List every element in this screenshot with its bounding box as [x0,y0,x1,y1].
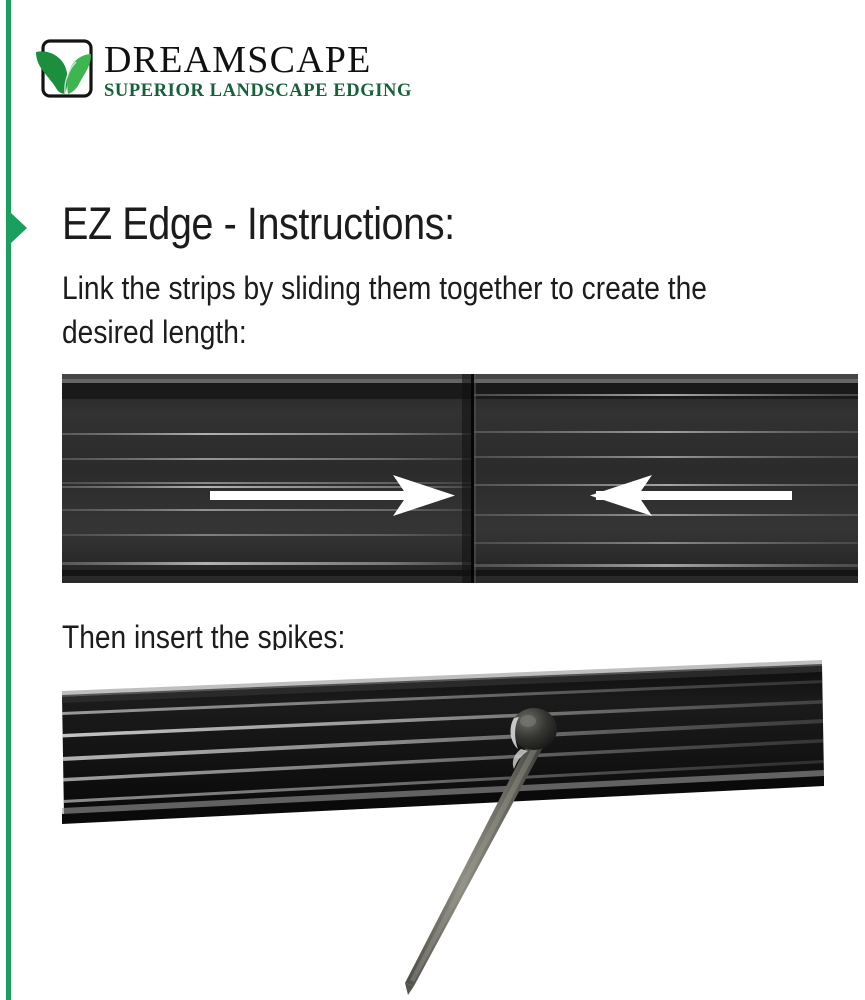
triangle-right-icon [10,212,27,244]
page-title: EZ Edge - Instructions: [62,198,455,250]
brand-name: DREAMSCAPE [104,40,412,80]
brand-wordmark: DREAMSCAPE SUPERIOR LANDSCAPE EDGING [104,38,412,101]
left-green-rail [6,0,11,1000]
figure-spike-insertion [62,650,858,1000]
two-leaves-icon [34,38,96,102]
brand-logo: DREAMSCAPE SUPERIOR LANDSCAPE EDGING [34,38,412,102]
brand-tagline: SUPERIOR LANDSCAPE EDGING [104,81,412,101]
step-one-text: Link the strips by sliding them together… [62,266,792,354]
figure-linking-strips [62,374,858,583]
instruction-sheet-page: DREAMSCAPE SUPERIOR LANDSCAPE EDGING EZ … [0,0,865,1000]
